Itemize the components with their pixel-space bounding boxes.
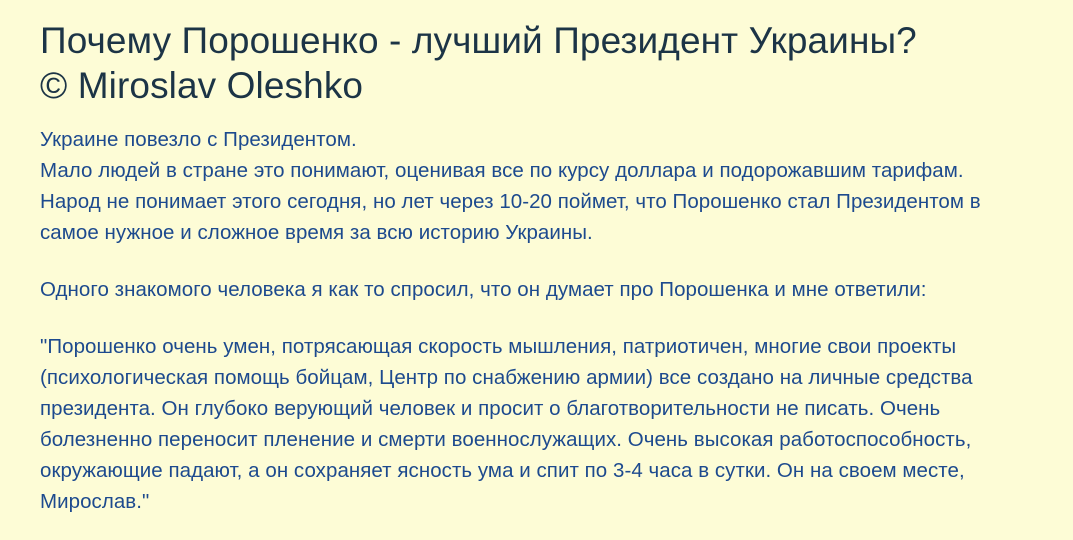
- page-title: Почему Порошенко - лучший Президент Укра…: [40, 0, 920, 108]
- article-container: Почему Порошенко - лучший Президент Укра…: [40, 0, 1040, 517]
- article-body: Украине повезло с Президентом. Мало люде…: [40, 108, 1040, 517]
- paragraph-intro: Украине повезло с Президентом. Мало люде…: [40, 124, 1040, 248]
- paragraph-quote: "Порошенко очень умен, потрясающая скоро…: [40, 331, 1040, 517]
- article-page: Почему Порошенко - лучший Президент Укра…: [0, 0, 1073, 540]
- paragraph-setup: Одного знакомого человека я как то спрос…: [40, 274, 1040, 305]
